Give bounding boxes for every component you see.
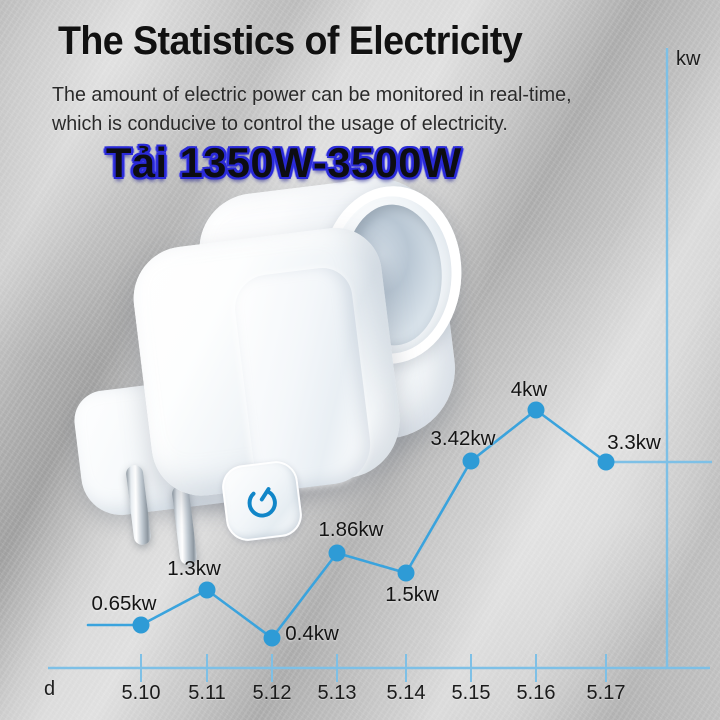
data-point-5.13[interactable] xyxy=(329,545,346,562)
subtitle-line-2: which is conducive to control the usage … xyxy=(52,109,628,138)
page-subtitle: The amount of electric power can be moni… xyxy=(52,80,628,138)
data-point-5.15[interactable] xyxy=(463,453,480,470)
x-tick-label-5.11: 5.11 xyxy=(188,682,225,705)
x-tick-label-5.12: 5.12 xyxy=(253,682,292,705)
x-tick-label-5.14: 5.14 xyxy=(387,682,426,705)
x-tick-label-5.17: 5.17 xyxy=(587,682,626,705)
x-tick-label-5.16: 5.16 xyxy=(517,682,556,705)
data-point-label-5.10: 0.65kw xyxy=(92,592,157,616)
x-tick-label-5.10: 5.10 xyxy=(122,682,161,705)
x-axis-label: d xyxy=(44,678,55,701)
y-axis-label: kw xyxy=(676,48,700,71)
data-point-label-5.15: 3.42kw xyxy=(431,427,496,451)
data-point-label-5.17: 3.3kw xyxy=(607,431,661,455)
data-point-label-5.11: 1.3kw xyxy=(167,557,221,581)
subtitle-line-1: The amount of electric power can be moni… xyxy=(52,80,628,109)
data-point-5.17[interactable] xyxy=(598,454,615,471)
data-point-5.14[interactable] xyxy=(398,565,415,582)
data-point-5.16[interactable] xyxy=(528,402,545,419)
page-title: The Statistics of Electricity xyxy=(58,20,522,62)
data-point-label-5.14: 1.5kw xyxy=(385,583,439,607)
product-banner: 0.65kw1.3kw0.4kw1.86kw1.5kw3.42kw4kw3.3k… xyxy=(0,0,720,720)
data-point-5.12[interactable] xyxy=(264,630,281,647)
data-point-5.11[interactable] xyxy=(199,582,216,599)
data-point-label-5.16: 4kw xyxy=(511,378,547,402)
x-tick-label-5.13: 5.13 xyxy=(318,682,357,705)
x-tick-label-5.15: 5.15 xyxy=(452,682,491,705)
data-point-5.10[interactable] xyxy=(133,617,150,634)
data-point-label-5.12: 0.4kw xyxy=(285,622,339,646)
data-point-label-5.13: 1.86kw xyxy=(319,518,384,542)
promo-load-rating: Tải 1350W-3500W xyxy=(106,142,462,184)
